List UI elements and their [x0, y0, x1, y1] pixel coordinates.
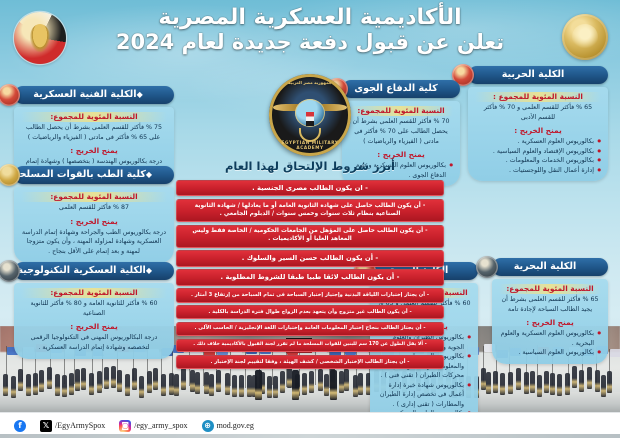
naval-outcome-bullet: بكالوريوس العلوم السياسية .	[499, 348, 601, 357]
x-twitter-icon[interactable]: 𝕏	[40, 420, 52, 432]
poster-header: الأكاديمية العسكرية المصرية تعلن عن قبول…	[0, 0, 620, 54]
admission-condition-item: - أن يكون الطالب لائقا طبيا طبقا للشروط …	[176, 269, 444, 285]
naval-grade-label: النسبة المئوية للمجموع:	[499, 284, 601, 294]
war-outcome-bullet: بكالوريوس الإقتصاد والعلوم السياسية .	[475, 147, 601, 156]
parade-soldier	[216, 370, 221, 392]
parade-soldier	[358, 373, 363, 395]
parade-soldier	[18, 369, 23, 391]
technological-college-badge-icon	[0, 260, 20, 282]
parade-soldier	[486, 372, 491, 394]
parade-soldier	[247, 375, 252, 397]
college-technological-header: ◆الكلية العسكرية التكنولوجية	[14, 262, 174, 280]
college-card-war: الكلية الحربية النسبة المئوية للمجموع : …	[468, 66, 608, 181]
college-medicine-header: ◆كلية الطب بالقوات المسلحة	[14, 166, 174, 184]
parade-soldier	[11, 376, 16, 398]
parade-soldier	[544, 371, 549, 393]
footer-link-facebook[interactable]: f	[14, 420, 26, 432]
parade-soldier	[55, 374, 60, 396]
technical-outcome-label: يمنح الخريج :	[21, 146, 167, 156]
parade-soldier	[81, 368, 86, 390]
parade-soldier	[493, 371, 498, 393]
parade-lead-soldier	[255, 370, 262, 400]
air-force-outcome-bullet: بكالوريوس شهادة خبرة إدارة أعمال فى تخصص…	[377, 381, 471, 409]
medicine-outcome-text: درجة بكالوريوس الطب والجراحة وشهادة إتما…	[21, 228, 167, 257]
footer-link-label: /egy_army_spox	[134, 421, 187, 430]
parade-soldier	[339, 371, 344, 393]
conditions-heading: أبرز شروط الإلتحاق لهذا العام	[225, 159, 395, 173]
poster-title-line2: تعلن عن قبول دفعة جديدة لعام 2024	[0, 31, 620, 55]
parade-soldier	[174, 374, 179, 396]
footer-link-label: /EgyArmySpox	[55, 421, 105, 430]
admission-condition-item: - أن يجتاز إختبارات اللياقة البدنية وإجت…	[176, 288, 444, 302]
parade-soldier	[204, 372, 209, 394]
parade-soldier	[273, 376, 278, 398]
admission-condition-item: - أن يكون الطالب حاصل على المؤهل من الجا…	[176, 225, 444, 248]
war-outcome-bullet: بكالوريوس الخدمات والمعلومات .	[475, 156, 601, 165]
parade-soldier	[524, 372, 529, 394]
medicine-grade-label: النسبة المئوية للمجموع:	[21, 192, 167, 202]
parade-soldier	[601, 375, 606, 397]
parade-soldier	[309, 371, 314, 393]
parade-lead-soldier	[330, 370, 337, 400]
parade-soldier	[139, 376, 144, 398]
technological-grade-text: 60 % فأكثر للثانوية العامة و 80 % فأكثر …	[21, 299, 167, 319]
parade-soldier	[232, 375, 237, 397]
parade-soldier	[239, 375, 244, 397]
parade-soldier	[324, 374, 329, 396]
infographic-poster: الأكاديمية العسكرية المصرية تعلن عن قبول…	[0, 0, 620, 438]
parade-soldier	[318, 369, 323, 391]
parade-soldier	[97, 371, 102, 393]
college-naval-body: النسبة المئوية للمجموع: 65 % فأكثر للقسم…	[492, 279, 608, 364]
naval-grade-text: 65 % فأكثر للقسم العلمى بشرط أن يجيد الط…	[499, 295, 601, 315]
college-technical-title: الكلية الفنية العسكرية	[33, 89, 136, 100]
parade-soldier	[344, 369, 349, 391]
war-outcome-bullet: إدارة أعمال النقل واللوجستيات .	[475, 166, 601, 175]
parade-soldier	[500, 373, 505, 395]
parade-soldier	[508, 372, 513, 394]
parade-soldier	[3, 374, 8, 396]
parade-soldier	[33, 373, 38, 395]
medicine-outcome-label: يمنح الخريج :	[21, 216, 167, 226]
admission-condition-item: - أن يجتاز الطالب الإختبار الشخصى / كشف …	[176, 355, 444, 369]
war-outcome-bullet: بكالوريوس العلوم العسكرية .	[475, 137, 601, 146]
egyptian-military-academy-emblem-icon: جمهورية مصر العربية EGYPTIAN MILITARY AC…	[269, 74, 351, 156]
admission-condition-item: - أن يجتاز الطالب بنجاح إختبار المعلومات…	[176, 322, 444, 336]
parade-soldier	[530, 371, 535, 393]
parade-soldier	[579, 370, 584, 392]
bullet-diamond-icon: ◆	[137, 90, 143, 99]
college-war-header: الكلية الحربية	[468, 66, 608, 84]
technological-grade-label: النسبة المئوية للمجموع:	[21, 288, 167, 298]
parade-soldier	[595, 370, 600, 392]
parade-soldier	[302, 373, 307, 395]
ministry-of-defense-crest-icon	[14, 12, 66, 64]
admission-condition-item: - ان يكون الطالب مصرى الجنسية .	[176, 180, 444, 196]
medicine-grade-text: 87 % فأكثر للقسم العلمى	[21, 203, 167, 213]
parade-soldier	[537, 375, 542, 397]
technical-college-badge-icon	[0, 84, 20, 106]
parade-flag	[610, 349, 620, 357]
parade-soldier	[132, 368, 137, 390]
naval-outcome-bullet: بكالوريوس العلوم العسكرية والعلوم البحري…	[499, 329, 601, 348]
parade-soldier	[47, 367, 52, 389]
college-technical-header: ◆الكلية الفنية العسكرية	[14, 86, 174, 104]
parade-soldier	[39, 370, 44, 392]
parade-soldier	[190, 370, 195, 392]
war-outcome-bullets: بكالوريوس العلوم العسكرية .بكالوريوس الإ…	[475, 137, 601, 175]
parade-soldier	[153, 368, 158, 390]
college-naval-header: الكلية البحرية	[492, 258, 608, 276]
war-grade-label: النسبة المئوية للمجموع :	[475, 92, 601, 102]
footer-link-x-twitter[interactable]: 𝕏/EgyArmySpox	[40, 420, 105, 432]
gold-academy-seal-icon	[562, 14, 608, 60]
admission-condition-item: - ألا يقل الطول عن 170 سم للبنين للقوات …	[176, 339, 444, 353]
parade-soldier	[225, 373, 230, 395]
admission-conditions-list: - ان يكون الطالب مصرى الجنسية .- أن يكون…	[176, 180, 444, 372]
parade-soldier	[195, 372, 200, 394]
parade-soldier	[111, 366, 116, 388]
parade-soldier	[209, 374, 214, 396]
seal-egypt-flag-icon	[306, 112, 314, 126]
college-technological-title: الكلية العسكرية التكنولوجية	[17, 265, 145, 276]
academy-emblem-block: جمهورية مصر العربية EGYPTIAN MILITARY AC…	[225, 74, 395, 173]
admission-condition-item: - أن يكون الطالب غير متزوج وأن يتعهد بعد…	[176, 305, 444, 319]
parade-soldier	[353, 375, 358, 397]
war-outcome-label: يمنح الخريج :	[475, 126, 601, 136]
seal-wing-right-icon	[321, 104, 347, 111]
war-grade-text: 65 % فأكثر للقسم العلمى و 70 % فأكثر للق…	[475, 103, 601, 123]
naval-outcome-label: يمنح الخريج :	[499, 318, 601, 328]
parade-soldier	[267, 376, 272, 398]
college-medicine-body: النسبة المئوية للمجموع: 87 % فأكثر للقسم…	[14, 187, 174, 263]
parade-soldier	[89, 373, 94, 395]
bullet-diamond-icon: ◆	[146, 266, 152, 275]
parade-soldier	[117, 370, 122, 392]
parade-soldier	[104, 367, 109, 389]
bottom-strip	[0, 434, 620, 438]
admission-condition-item: - أن يكون الطالب حاصل على شهادة الثانوية…	[176, 199, 444, 222]
parade-soldier	[161, 374, 166, 396]
parade-soldier	[607, 371, 612, 393]
parade-soldier	[565, 373, 570, 395]
parade-soldier	[62, 375, 67, 397]
footer-link-instagram[interactable]: ◙/egy_army_spox	[119, 420, 187, 432]
parade-lead-soldier	[292, 370, 299, 400]
college-medicine-title: كلية الطب بالقوات المسلحة	[14, 169, 146, 180]
seal-ring-text-top: جمهورية مصر العربية	[269, 80, 351, 85]
college-technological-body: النسبة المئوية للمجموع: 60 % فأكثر للثان…	[14, 283, 174, 359]
technological-outcome-text: درجة البكالوريوس المهنى فى التكنولوجيا ا…	[21, 333, 167, 353]
technical-grade-text: 75 % فأكثر للقسم العلمى بشرط أن يحصل الط…	[21, 123, 167, 143]
footer-link-label: mod.gov.eg	[217, 421, 254, 430]
parade-soldier	[125, 374, 130, 396]
bullet-diamond-icon: ◆	[146, 170, 152, 179]
parade-soldier	[169, 373, 174, 395]
poster-title-line1: الأكاديمية العسكرية المصرية	[0, 6, 620, 31]
parade-soldier	[75, 369, 80, 391]
naval-outcome-bullets: بكالوريوس العلوم العسكرية والعلوم البحري…	[499, 329, 601, 357]
parade-soldier	[26, 374, 31, 396]
admission-condition-item: - أن يكون الطالب حسن السير والسلوك .	[176, 250, 444, 266]
naval-college-badge-icon	[476, 256, 498, 278]
website-icon[interactable]: ⊕	[202, 420, 214, 432]
footer-link-website[interactable]: ⊕mod.gov.eg	[202, 420, 254, 432]
college-naval-title: الكلية البحرية	[514, 261, 577, 272]
parade-soldier	[69, 373, 74, 395]
college-card-naval: الكلية البحرية النسبة المئوية للمجموع: 6…	[492, 258, 608, 364]
facebook-icon[interactable]: f	[14, 420, 26, 432]
parade-soldier	[557, 374, 562, 396]
parade-soldier	[572, 366, 577, 388]
technical-grade-label: النسبة المئوية للمجموع:	[21, 112, 167, 122]
parade-soldier	[516, 368, 521, 390]
technological-outcome-label: يمنح الخريج :	[21, 322, 167, 332]
seal-ring-text-bottom: EGYPTIAN MILITARY ACADEMY	[269, 140, 351, 150]
instagram-icon[interactable]: ◙	[119, 420, 131, 432]
medicine-college-badge-icon	[0, 164, 20, 186]
parade-soldier	[550, 373, 555, 395]
college-card-technological: ◆الكلية العسكرية التكنولوجية النسبة المئ…	[14, 262, 174, 359]
parade-soldier	[587, 367, 592, 389]
parade-soldier	[280, 371, 285, 393]
parade-soldier	[147, 371, 152, 393]
college-card-medicine: ◆كلية الطب بالقوات المسلحة النسبة المئوي…	[14, 166, 174, 263]
college-war-body: النسبة المئوية للمجموع : 65 % فأكثر للقس…	[468, 87, 608, 181]
college-war-title: الكلية الحربية	[502, 69, 565, 80]
